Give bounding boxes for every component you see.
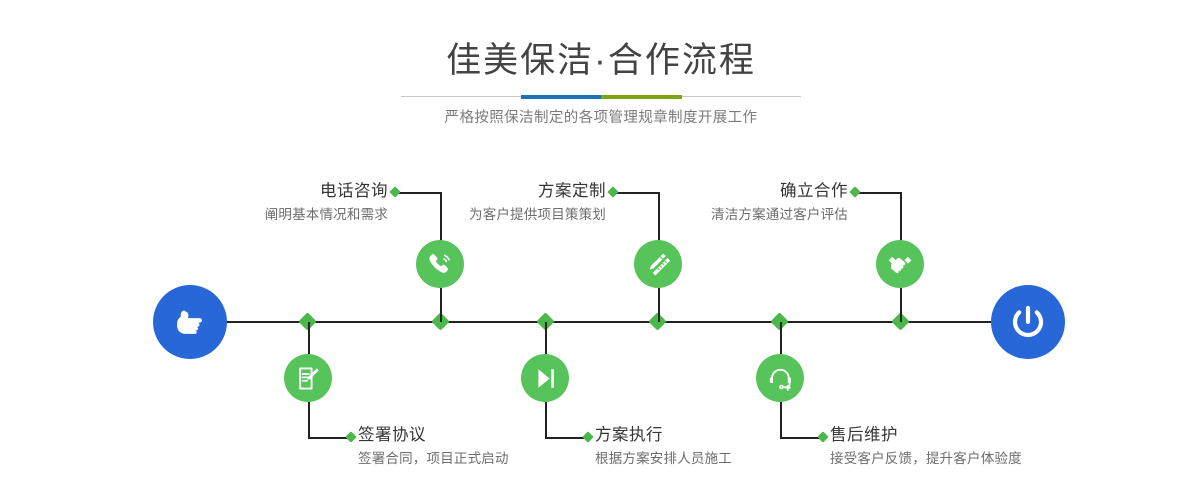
step-6-title: 售后维护 <box>830 424 1150 446</box>
step-3-connector-lower <box>658 288 660 322</box>
step-6-desc: 接受客户反馈，提升客户体验度 <box>830 448 1150 469</box>
step-5-connector-lower <box>900 288 902 322</box>
timeline-end-node[interactable] <box>991 285 1065 359</box>
step-6-connector-horizontal <box>780 437 822 439</box>
step-4-connector-upper <box>545 322 547 354</box>
step-2-connector-lower <box>308 402 310 439</box>
phone-call-icon <box>426 250 454 278</box>
divider-segment-green <box>601 95 682 99</box>
step-2-connector-upper <box>308 322 310 354</box>
timeline: 电话咨询 阐明基本情况和需求 签署协议 签署合同，项目正式启动 <box>0 140 1202 502</box>
step-2-label-marker <box>345 431 356 442</box>
step-4-connector-lower <box>545 402 547 439</box>
play-execute-icon <box>532 365 559 392</box>
handshake-icon <box>886 250 914 278</box>
step-6-connector-upper <box>780 322 782 354</box>
process-flow-infographic: 佳美保洁·合作流程 严格按照保洁制定的各项管理规章制度开展工作 <box>0 0 1202 502</box>
step-6-icon-bubble[interactable] <box>756 354 804 402</box>
step-5-text: 确立合作 清洁方案通过客户评估 <box>558 180 848 225</box>
customer-service-add-icon <box>767 365 794 392</box>
divider-segment-blue <box>521 95 601 99</box>
pointing-hand-icon <box>170 302 210 342</box>
step-6-text: 售后维护 接受客户反馈，提升客户体验度 <box>830 424 1150 469</box>
step-6-connector-lower <box>780 402 782 439</box>
step-1-connector-lower <box>440 288 442 322</box>
step-5-connector-horizontal <box>854 192 902 194</box>
header: 佳美保洁·合作流程 严格按照保洁制定的各项管理规章制度开展工作 <box>0 0 1202 140</box>
step-3-icon-bubble[interactable] <box>634 240 682 288</box>
step-2-connector-horizontal <box>308 437 350 439</box>
step-4-icon-bubble[interactable] <box>521 354 569 402</box>
step-2-icon-bubble[interactable] <box>284 354 332 402</box>
step-5-icon-bubble[interactable] <box>876 240 924 288</box>
step-5-label-marker <box>849 186 860 197</box>
power-icon <box>1007 301 1049 343</box>
step-1-icon-bubble[interactable] <box>416 240 464 288</box>
title-divider <box>401 95 801 99</box>
step-5-desc: 清洁方案通过客户评估 <box>558 204 848 225</box>
step-4-connector-horizontal <box>545 437 587 439</box>
page-title: 佳美保洁·合作流程 <box>0 40 1202 82</box>
timeline-start-node[interactable] <box>153 285 227 359</box>
pencil-ruler-icon <box>644 250 672 278</box>
document-sign-icon <box>295 365 322 392</box>
step-5-title: 确立合作 <box>558 180 848 202</box>
page-subtitle: 严格按照保洁制定的各项管理规章制度开展工作 <box>0 107 1202 129</box>
